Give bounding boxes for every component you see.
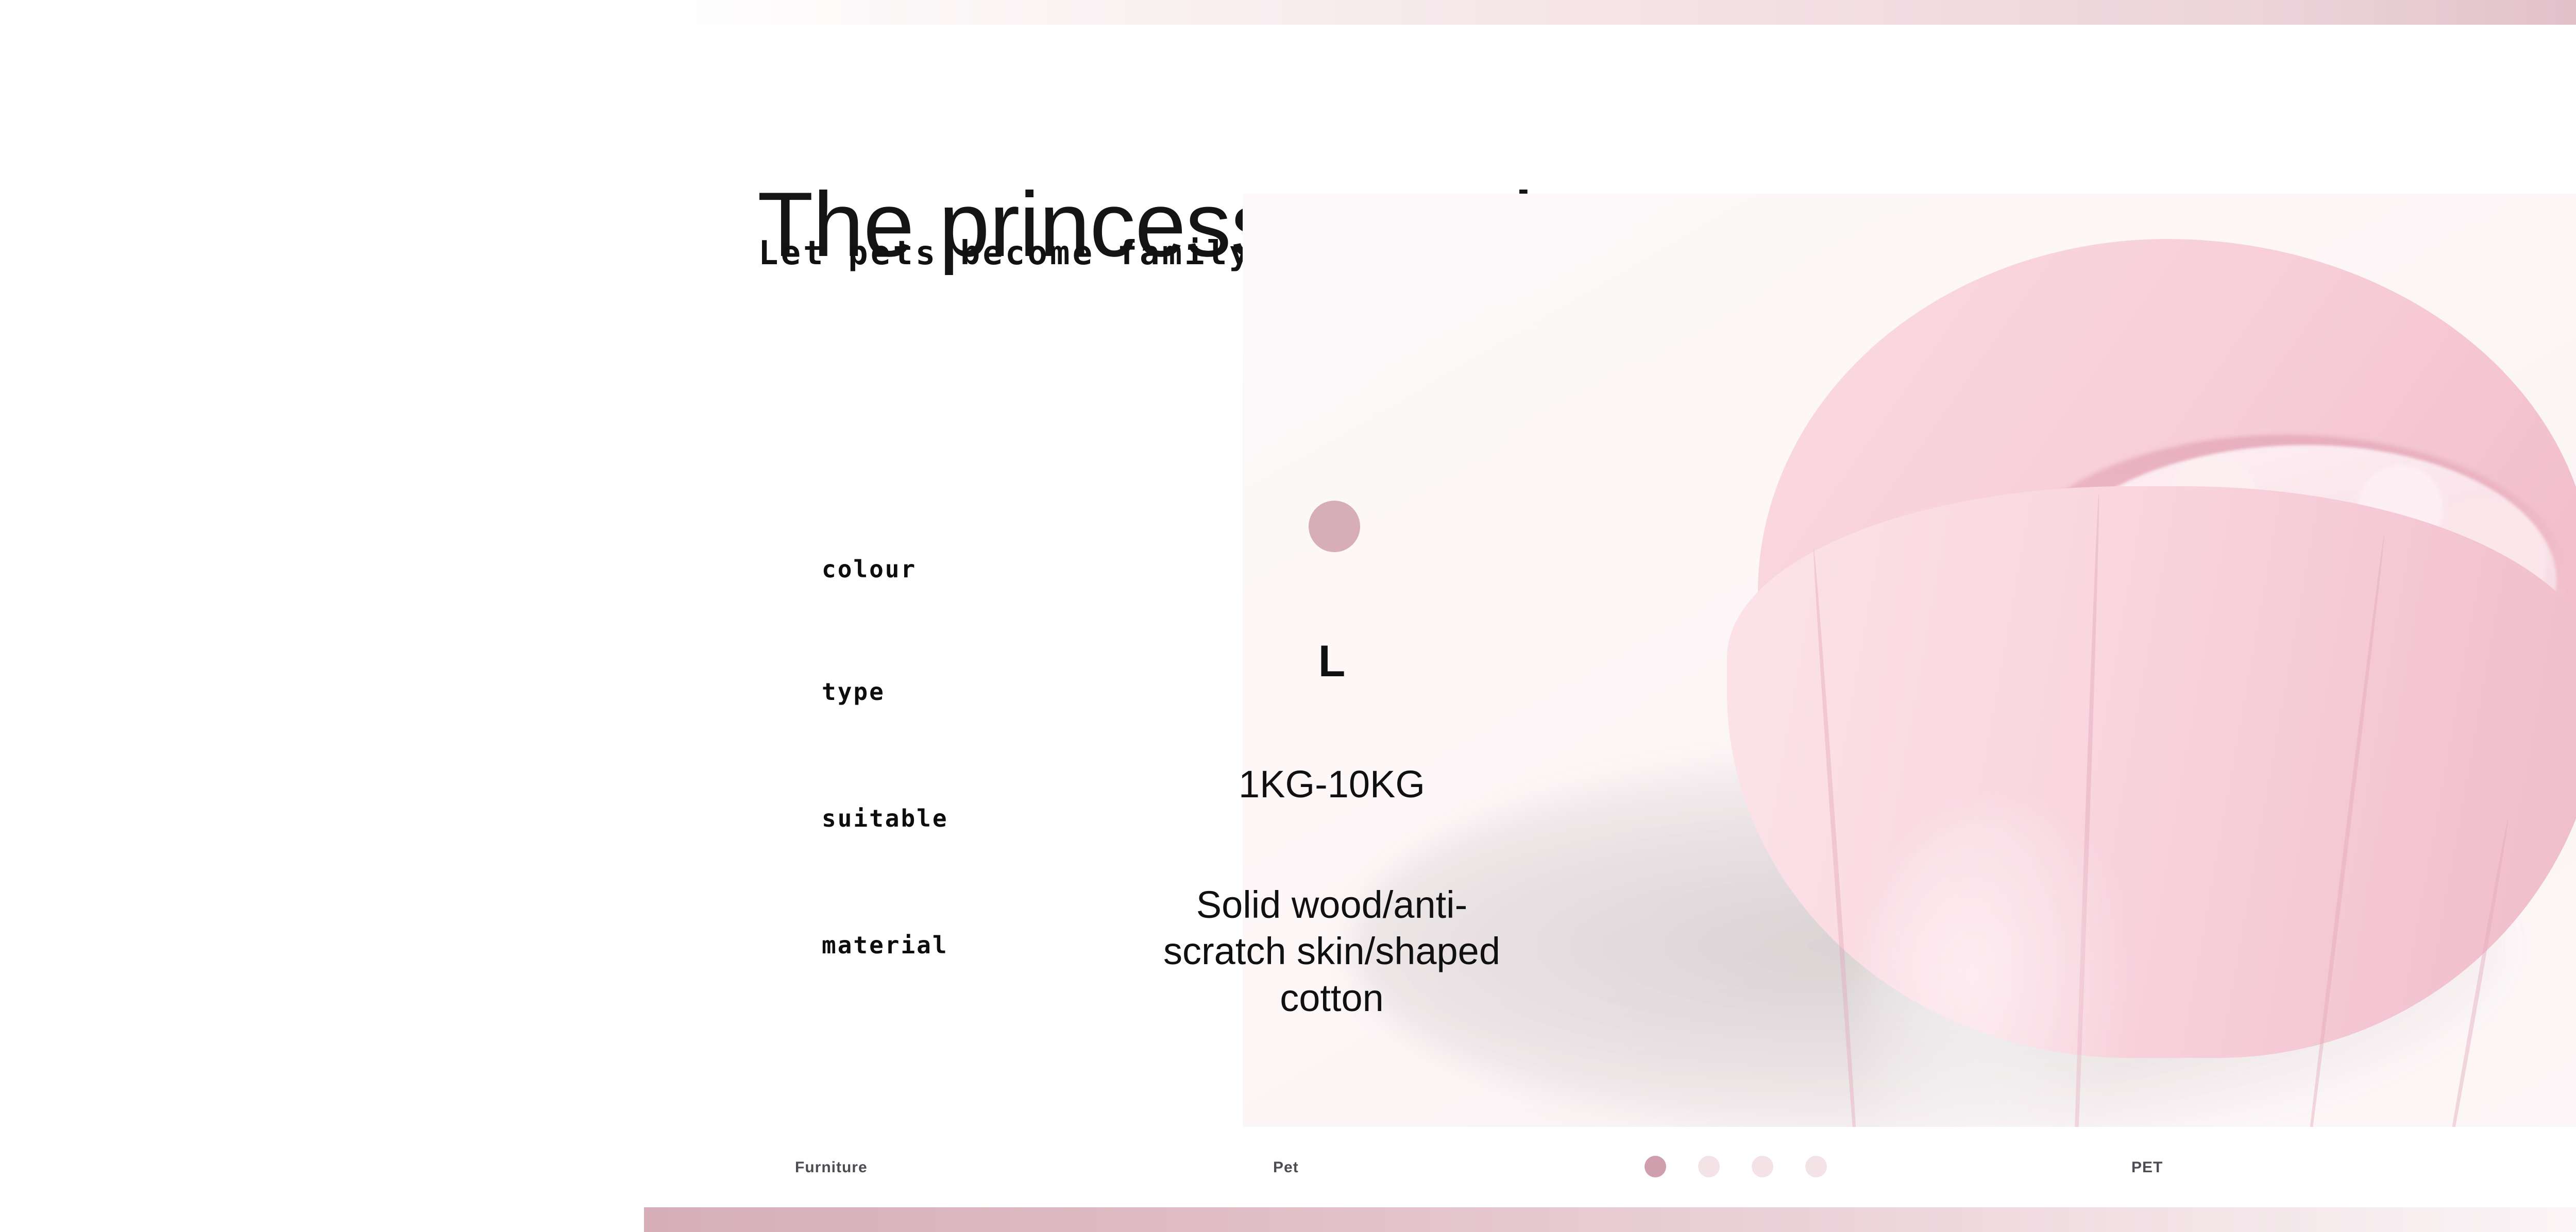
nest-highlight	[1861, 806, 2139, 1127]
spec-value-material: Solid wood/anti-scratch skin/shaped cott…	[1157, 882, 1507, 1021]
nest-seam	[2298, 535, 2386, 1127]
nest-seam	[1811, 549, 1863, 1127]
colour-swatch[interactable]	[1309, 501, 1360, 552]
pet-nest-illustration	[1727, 239, 2576, 1063]
nest-base-body	[1727, 486, 2576, 1058]
top-decor-band	[644, 0, 2576, 25]
footer-label-furniture[interactable]: Furniture	[795, 1159, 868, 1176]
carousel-pagination[interactable]	[1645, 1156, 1827, 1177]
spec-label-material: material	[822, 931, 948, 959]
pagination-dot-2[interactable]	[1698, 1156, 1720, 1177]
footer-label-pet-upper[interactable]: PET	[2131, 1159, 2163, 1176]
spec-value-suitable: 1KG-10KG	[1157, 761, 1507, 808]
pagination-dot-1[interactable]	[1645, 1156, 1666, 1177]
pagination-dot-3[interactable]	[1752, 1156, 1773, 1177]
spec-label-colour: colour	[822, 555, 917, 583]
bottom-decor-band	[644, 1207, 2576, 1232]
spec-label-suitable: suitable	[822, 805, 948, 832]
spec-label-type: type	[822, 678, 885, 706]
product-slide: The princess round nest Let pets become …	[0, 0, 2576, 1226]
spec-value-type: L	[1157, 635, 1507, 689]
footer-label-pet[interactable]: Pet	[1273, 1159, 1299, 1176]
pagination-dot-4[interactable]	[1805, 1156, 1827, 1177]
nest-seam	[2440, 818, 2510, 1127]
